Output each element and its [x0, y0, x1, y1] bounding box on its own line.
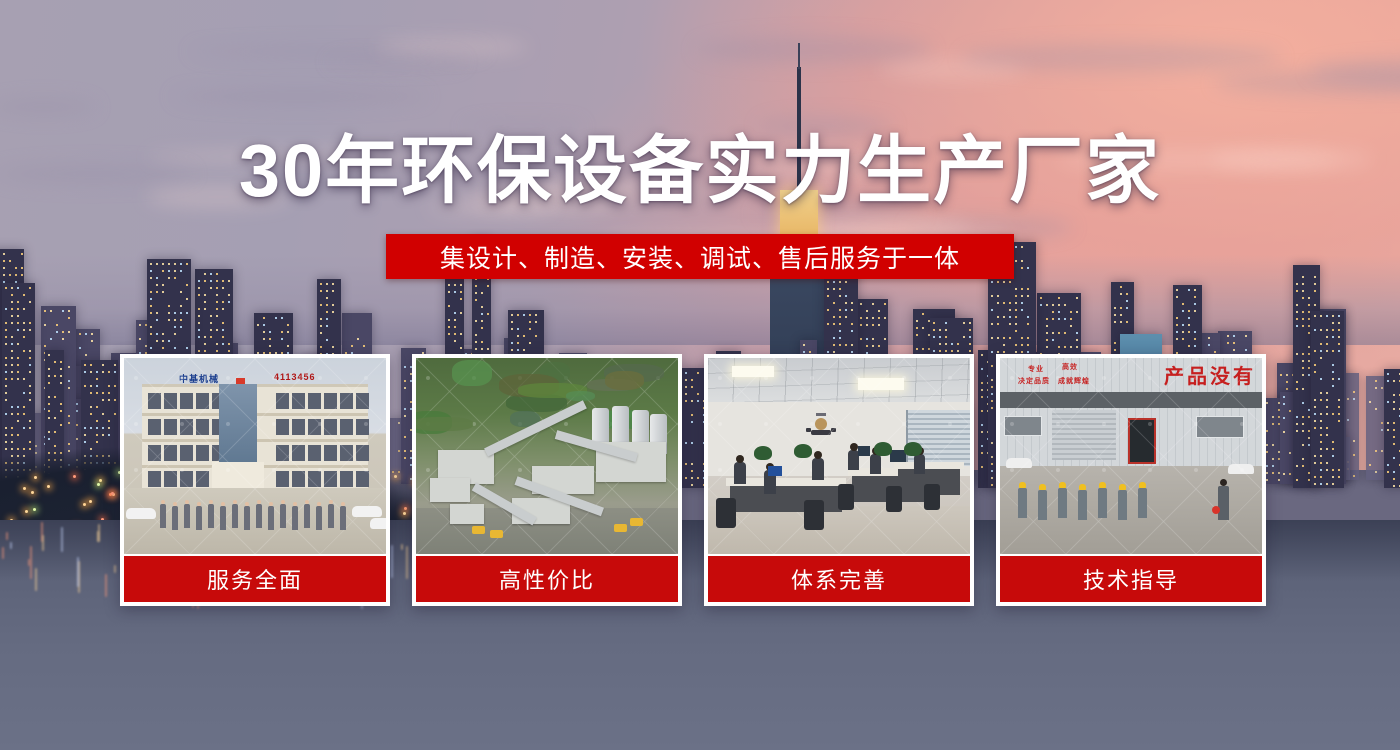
- building-window: [475, 341, 477, 343]
- building-window: [79, 347, 81, 349]
- building-window: [162, 347, 164, 349]
- building-window: [1320, 315, 1322, 317]
- building-window: [1387, 429, 1389, 431]
- building-window: [1314, 427, 1316, 429]
- building-window: [11, 315, 13, 317]
- building-window: [5, 385, 7, 387]
- building-window: [827, 309, 829, 311]
- building-window: [17, 406, 19, 408]
- feature-card[interactable]: 高性价比: [412, 354, 682, 606]
- building-window: [481, 306, 483, 308]
- building-window: [1027, 337, 1029, 339]
- building-window: [517, 328, 519, 330]
- building-window: [1188, 331, 1190, 333]
- building-window: [872, 303, 874, 305]
- building-window: [1227, 335, 1229, 337]
- building-window: [1302, 360, 1304, 362]
- building-window: [1176, 317, 1178, 319]
- building-window: [1194, 331, 1196, 333]
- office-window: [196, 393, 209, 409]
- building-window: [29, 420, 31, 422]
- building-window: [210, 287, 212, 289]
- building-window: [114, 385, 116, 387]
- building-window: [1302, 276, 1304, 278]
- building-window: [529, 328, 531, 330]
- feature-card-list: 中基机械 4113456 服务全面 高性价比: [120, 354, 1280, 606]
- building-window: [320, 318, 322, 320]
- building-window: [1296, 388, 1298, 390]
- building-window: [1009, 281, 1011, 283]
- building-window: [1314, 406, 1316, 408]
- building-window: [60, 410, 62, 412]
- building-window: [62, 310, 64, 312]
- building-window: [1114, 307, 1116, 309]
- building-window: [1338, 469, 1340, 471]
- building-window: [1308, 346, 1310, 348]
- building-window: [11, 308, 13, 310]
- building-window: [96, 427, 98, 429]
- building-window: [448, 291, 450, 293]
- watermark-dot: [134, 422, 138, 426]
- office-window: [340, 471, 353, 487]
- building-window: [198, 315, 200, 317]
- building-window: [1332, 413, 1334, 415]
- building-window: [939, 343, 941, 345]
- building-window: [448, 305, 450, 307]
- building-window: [363, 345, 365, 347]
- building-window: [1188, 289, 1190, 291]
- building-window: [448, 319, 450, 321]
- building-window: [957, 343, 959, 345]
- building-window: [851, 344, 853, 346]
- building-window: [1326, 336, 1328, 338]
- building-window: [326, 325, 328, 327]
- building-window: [1296, 430, 1298, 432]
- office-window: [180, 471, 193, 487]
- building-window: [535, 321, 537, 323]
- building-window: [228, 280, 230, 282]
- building-window: [150, 326, 152, 328]
- office-window: [276, 419, 289, 435]
- feature-card[interactable]: 产品没有 专业 高效 决定品质 成就辉煌 技术指导: [996, 354, 1266, 606]
- computer-monitor: [768, 466, 782, 476]
- building-window: [1320, 455, 1322, 457]
- building-window: [1064, 346, 1066, 348]
- building-window: [332, 304, 334, 306]
- building-window: [68, 387, 70, 389]
- building-window: [1194, 310, 1196, 312]
- building-window: [1332, 476, 1334, 478]
- office-window: [308, 419, 321, 435]
- building-window: [11, 336, 13, 338]
- building-window: [1182, 324, 1184, 326]
- building-window: [332, 311, 334, 313]
- building-window: [162, 333, 164, 335]
- building-window: [5, 392, 7, 394]
- street-light: [47, 485, 50, 488]
- building-window: [916, 327, 918, 329]
- building-window: [68, 366, 70, 368]
- building-window: [1126, 300, 1128, 302]
- water-reflection: [6, 532, 8, 540]
- building-window: [320, 283, 322, 285]
- building-window: [17, 357, 19, 359]
- building-window: [1021, 302, 1023, 304]
- building-window: [326, 339, 328, 341]
- building-window: [1182, 338, 1184, 340]
- building-window: [1296, 283, 1298, 285]
- building-window: [1308, 325, 1310, 327]
- street-light: [23, 487, 26, 490]
- plant-building: [430, 478, 470, 502]
- building-window: [156, 340, 158, 342]
- building-window: [17, 371, 19, 373]
- building-window: [68, 422, 70, 424]
- building-window: [204, 350, 206, 352]
- building-window: [222, 336, 224, 338]
- staff-person: [328, 504, 334, 528]
- feature-card[interactable]: 体系完善: [704, 354, 974, 606]
- building-window: [5, 427, 7, 429]
- office-window: [164, 471, 177, 487]
- building-window: [1126, 321, 1128, 323]
- office-chair: [838, 484, 854, 510]
- card-caption: 体系完善: [708, 556, 970, 602]
- building-window: [11, 378, 13, 380]
- supervisor-person: [1218, 486, 1229, 520]
- building-window: [108, 385, 110, 387]
- building-window: [210, 336, 212, 338]
- building-window: [872, 345, 874, 347]
- building-window: [1320, 350, 1322, 352]
- factory-slogan-small: 成就辉煌: [1058, 376, 1090, 386]
- street-light: [33, 508, 36, 511]
- building-window: [1058, 346, 1060, 348]
- office-chair: [804, 500, 824, 530]
- building-window: [11, 413, 13, 415]
- building-window: [150, 298, 152, 300]
- building-window: [263, 317, 265, 319]
- building-window: [162, 263, 164, 265]
- building-window: [1176, 331, 1178, 333]
- worker-person: [1058, 488, 1067, 518]
- building-window: [1375, 471, 1377, 473]
- building-window: [90, 364, 92, 366]
- office-window: [276, 445, 289, 461]
- building-window: [460, 333, 462, 335]
- building-window: [1320, 462, 1322, 464]
- plant-building: [450, 504, 484, 524]
- office-window: [356, 471, 369, 487]
- building-window: [1015, 260, 1017, 262]
- building-window: [281, 331, 283, 333]
- cloud: [695, 35, 932, 64]
- building-window: [878, 317, 880, 319]
- building-window: [1208, 337, 1210, 339]
- building-window: [1314, 364, 1316, 366]
- building-window: [1015, 330, 1017, 332]
- parked-car: [1228, 464, 1254, 474]
- building-window: [1369, 464, 1371, 466]
- building-window: [1320, 399, 1322, 401]
- building-window: [29, 392, 31, 394]
- building-window: [1320, 343, 1322, 345]
- building-window: [1393, 394, 1395, 396]
- building-window: [487, 313, 489, 315]
- building-window: [17, 329, 19, 331]
- building-window: [204, 294, 206, 296]
- building-window: [23, 392, 25, 394]
- staff-person: [196, 506, 202, 530]
- building-window: [872, 338, 874, 340]
- building-window: [162, 340, 164, 342]
- building-window: [198, 287, 200, 289]
- building-window: [174, 333, 176, 335]
- building-window: [1114, 342, 1116, 344]
- cloud: [172, 87, 428, 106]
- building-window: [878, 324, 880, 326]
- building-window: [1052, 311, 1054, 313]
- building-window: [1283, 403, 1285, 405]
- office-window: [292, 471, 305, 487]
- building-window: [1021, 246, 1023, 248]
- building-window: [1314, 283, 1316, 285]
- building-phone-number: 4113456: [274, 372, 316, 382]
- building-window: [1302, 353, 1304, 355]
- ceiling-grid: [708, 358, 970, 404]
- watermark-dot: [564, 422, 568, 426]
- building-window: [1188, 324, 1190, 326]
- flag-icon: [236, 378, 245, 384]
- building-window: [1347, 419, 1349, 421]
- building-window: [1326, 350, 1328, 352]
- building-window: [1332, 329, 1334, 331]
- building-window: [475, 348, 477, 350]
- building-window: [1320, 413, 1322, 415]
- building-window: [481, 348, 483, 350]
- building-window: [1289, 452, 1291, 454]
- building-window: [922, 348, 924, 350]
- building-window: [1332, 455, 1334, 457]
- parked-car: [126, 508, 156, 519]
- office-window: [340, 393, 353, 409]
- workshop-training-photo: 产品没有 专业 高效 决定品质 成就辉煌: [1000, 358, 1262, 554]
- building-window: [5, 413, 7, 415]
- building-window: [1320, 420, 1322, 422]
- building-window: [210, 315, 212, 317]
- building-window: [84, 364, 86, 366]
- building-signage: 中基机械: [179, 372, 219, 385]
- wall-logo-icon: [804, 412, 838, 438]
- building-window: [878, 310, 880, 312]
- building-window: [1332, 441, 1334, 443]
- building-window: [448, 326, 450, 328]
- building-window: [1286, 374, 1288, 376]
- building-window: [263, 338, 265, 340]
- building-window: [29, 399, 31, 401]
- building-window: [85, 333, 87, 335]
- factory-slogan-small: 高效: [1062, 362, 1078, 372]
- watermark-dot: [518, 468, 522, 472]
- street-light: [25, 510, 28, 513]
- building-window: [1326, 469, 1328, 471]
- building-window: [29, 385, 31, 387]
- building-window: [1338, 329, 1340, 331]
- building-window: [1021, 295, 1023, 297]
- building-window: [803, 351, 805, 353]
- building-window: [1353, 391, 1355, 393]
- feature-card[interactable]: 中基机械 4113456 服务全面: [120, 354, 390, 606]
- building-window: [11, 287, 13, 289]
- building-window: [1393, 429, 1395, 431]
- building-window: [1302, 325, 1304, 327]
- building-window: [1046, 346, 1048, 348]
- staff-person: [268, 506, 274, 530]
- building-window: [1387, 380, 1389, 382]
- building-window: [460, 291, 462, 293]
- building-window: [228, 301, 230, 303]
- building-window: [222, 308, 224, 310]
- building-window: [939, 329, 941, 331]
- building-window: [997, 323, 999, 325]
- building-window: [1308, 367, 1310, 369]
- building-window: [5, 336, 7, 338]
- building-window: [1070, 311, 1072, 313]
- building-window: [833, 344, 835, 346]
- building-window: [1194, 345, 1196, 347]
- building-window: [833, 323, 835, 325]
- staff-person: [232, 504, 238, 528]
- building-window: [933, 350, 935, 352]
- water-reflection: [2, 547, 4, 559]
- building-window: [1353, 398, 1355, 400]
- building-window: [1176, 324, 1178, 326]
- building-window: [1052, 339, 1054, 341]
- building-window: [180, 312, 182, 314]
- building-window: [1353, 475, 1355, 477]
- water-reflection: [42, 535, 44, 551]
- building-window: [11, 427, 13, 429]
- building-window: [85, 354, 87, 356]
- building-window: [29, 301, 31, 303]
- building-window: [156, 284, 158, 286]
- building-window: [216, 350, 218, 352]
- building-window: [29, 371, 31, 373]
- building-window: [29, 350, 31, 352]
- building-window: [523, 314, 525, 316]
- building-window: [320, 346, 322, 348]
- building-window: [1393, 485, 1395, 487]
- building-window: [326, 283, 328, 285]
- office-window: [164, 445, 177, 461]
- building-window: [287, 331, 289, 333]
- building-window: [969, 336, 971, 338]
- building-window: [1308, 311, 1310, 313]
- building-window: [460, 347, 462, 349]
- building-window: [287, 324, 289, 326]
- water-reflection: [10, 542, 12, 549]
- building-window: [60, 403, 62, 405]
- factory-window: [1196, 416, 1244, 438]
- building-window: [1015, 288, 1017, 290]
- vegetation-patch: [416, 417, 473, 431]
- building-window: [916, 348, 918, 350]
- building-window: [1296, 423, 1298, 425]
- building-window: [216, 280, 218, 282]
- building-window: [180, 319, 182, 321]
- building-window: [475, 285, 477, 287]
- building-window: [198, 336, 200, 338]
- building-window: [198, 350, 200, 352]
- building-window: [1375, 387, 1377, 389]
- building-window: [475, 320, 477, 322]
- building-window: [102, 364, 104, 366]
- building-window: [1314, 462, 1316, 464]
- building-window: [90, 392, 92, 394]
- building-window: [90, 385, 92, 387]
- building-window: [90, 406, 92, 408]
- building-window: [180, 270, 182, 272]
- building-window: [1308, 374, 1310, 376]
- building-window: [839, 337, 841, 339]
- building-window: [1320, 329, 1322, 331]
- building-window: [68, 415, 70, 417]
- building-window: [1194, 303, 1196, 305]
- office-desk: [894, 462, 964, 469]
- building-window: [1320, 434, 1322, 436]
- building-window: [198, 329, 200, 331]
- building-window: [1046, 332, 1048, 334]
- building-window: [845, 302, 847, 304]
- building-window: [56, 324, 58, 326]
- building-window: [1314, 304, 1316, 306]
- building-window: [1296, 479, 1298, 481]
- building-window: [168, 305, 170, 307]
- building-window: [1214, 351, 1216, 353]
- building-window: [21, 253, 23, 255]
- building-window: [320, 304, 322, 306]
- office-window: [196, 419, 209, 435]
- building-window: [1326, 329, 1328, 331]
- building-window: [23, 322, 25, 324]
- building-window: [186, 347, 188, 349]
- building-window: [281, 338, 283, 340]
- building-window: [1314, 276, 1316, 278]
- vegetation-patch: [605, 371, 645, 390]
- building-window: [23, 329, 25, 331]
- building-window: [860, 324, 862, 326]
- building-window: [1338, 420, 1340, 422]
- building-window: [210, 329, 212, 331]
- building-window: [269, 331, 271, 333]
- building-window: [945, 350, 947, 352]
- building-window: [156, 277, 158, 279]
- building-window: [5, 287, 7, 289]
- building-window: [1308, 318, 1310, 320]
- building-window: [827, 323, 829, 325]
- building-window: [517, 349, 519, 351]
- building-window: [839, 323, 841, 325]
- building-window: [1308, 444, 1310, 446]
- building-window: [68, 331, 70, 333]
- building-window: [3, 267, 5, 269]
- building-window: [90, 413, 92, 415]
- building-window: [1176, 338, 1178, 340]
- building-window: [1302, 416, 1304, 418]
- building-window: [1326, 315, 1328, 317]
- building-window: [1393, 401, 1395, 403]
- building-window: [1114, 314, 1116, 316]
